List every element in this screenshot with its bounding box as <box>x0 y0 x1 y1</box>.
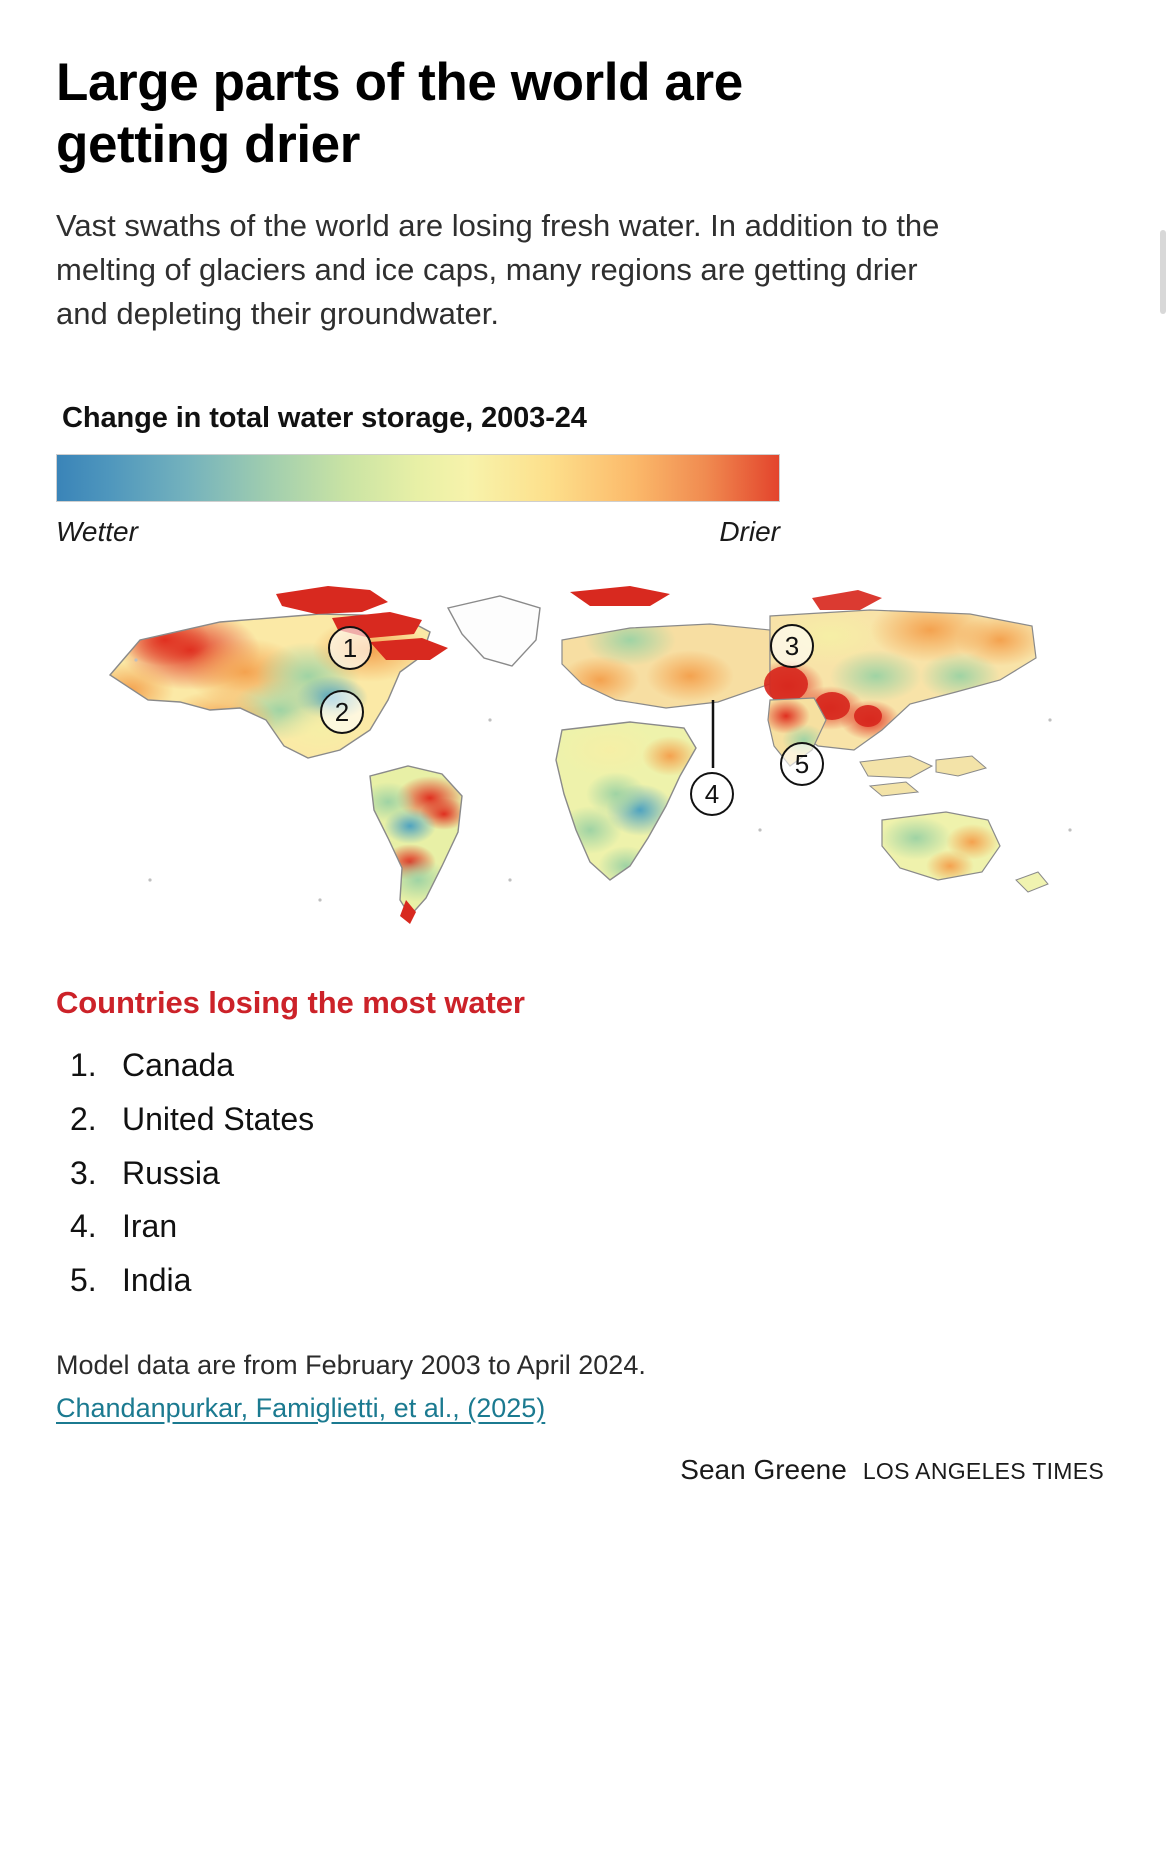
infographic-page: Large parts of the world are getting dri… <box>0 0 1170 1853</box>
byline-author: Sean Greene <box>680 1454 847 1485</box>
map-image <box>70 580 1128 925</box>
byline-organization: LOS ANGELES TIMES <box>863 1458 1104 1484</box>
scrollbar-thumb[interactable] <box>1160 230 1166 314</box>
rank-country: India <box>122 1254 191 1308</box>
list-item: 5. India <box>70 1254 1114 1308</box>
scale-labels: Wetter Drier <box>56 516 780 548</box>
rank-number: 5. <box>70 1254 122 1308</box>
world-map: 1 2 3 4 5 <box>70 580 1128 925</box>
deck-text: Vast swaths of the world are losing fres… <box>56 204 956 336</box>
map-marker-5-label: 5 <box>795 749 809 780</box>
page-title: Large parts of the world are getting dri… <box>56 0 846 176</box>
list-item: 2. United States <box>70 1093 1114 1147</box>
map-marker-4-label: 4 <box>705 779 719 810</box>
ranking-list: 1. Canada 2. United States 3. Russia 4. … <box>56 1039 1114 1308</box>
rank-number: 3. <box>70 1147 122 1201</box>
scale-label-high: Drier <box>719 516 780 548</box>
rank-country: Russia <box>122 1147 220 1201</box>
list-item: 4. Iran <box>70 1200 1114 1254</box>
map-marker-2[interactable]: 2 <box>320 690 364 734</box>
rank-number: 2. <box>70 1093 122 1147</box>
map-marker-1[interactable]: 1 <box>328 626 372 670</box>
list-item: 3. Russia <box>70 1147 1114 1201</box>
rank-country: Canada <box>122 1039 234 1093</box>
rank-number: 1. <box>70 1039 122 1093</box>
list-item: 1. Canada <box>70 1039 1114 1093</box>
map-marker-5[interactable]: 5 <box>780 742 824 786</box>
byline: Sean GreeneLOS ANGELES TIMES <box>56 1454 1114 1486</box>
data-note: Model data are from February 2003 to Apr… <box>56 1350 1114 1381</box>
ranking-title: Countries losing the most water <box>56 985 1114 1021</box>
map-marker-4[interactable]: 4 <box>690 772 734 816</box>
legend: Change in total water storage, 2003-24 W… <box>56 402 1114 548</box>
legend-title: Change in total water storage, 2003-24 <box>56 402 1114 435</box>
map-marker-3-label: 3 <box>785 631 799 662</box>
scale-label-low: Wetter <box>56 516 138 548</box>
map-marker-1-label: 1 <box>343 633 357 664</box>
map-marker-3[interactable]: 3 <box>770 624 814 668</box>
source-citation-link[interactable]: Chandanpurkar, Famiglietti, et al., (202… <box>56 1393 545 1424</box>
map-marker-2-label: 2 <box>335 697 349 728</box>
rank-number: 4. <box>70 1200 122 1254</box>
rank-country: United States <box>122 1093 314 1147</box>
color-scale-bar <box>56 454 780 502</box>
rank-country: Iran <box>122 1200 177 1254</box>
